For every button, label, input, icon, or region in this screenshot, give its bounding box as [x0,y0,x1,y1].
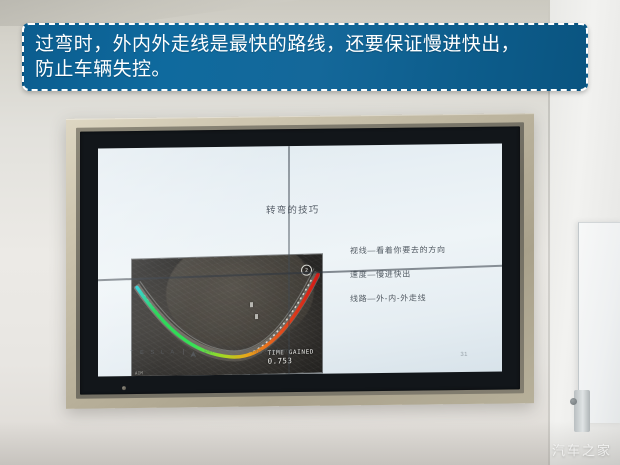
car-marker-a [250,302,253,307]
caption-line-2: 防止车辆失控。 [35,58,171,80]
display-frame: 转弯的技巧 [66,113,534,409]
presentation-screen[interactable]: 转弯的技巧 [98,144,502,377]
caption-text: 过弯时，外内外走线是最快的路线，还要保证慢进快出， 防止车辆失控。 [24,32,531,82]
caption-banner: 过弯时，外内外走线是最快的路线，还要保证慢进快出， 防止车辆失控。 [22,23,588,91]
slide-bullet-line: 线路—外-内-外走线 [350,292,446,304]
slide-bullet-vision: 视线—看着你要去的方向 [350,244,446,256]
slide-title: 转弯的技巧 [266,202,320,217]
slide-footer: T E S L A | Performance Driving Academy [130,342,291,362]
caption-line-1: 过弯时，外内外走线是最快的路线，还要保证慢进快出， [35,33,520,55]
academy-subtitle: Performance Driving Academy [204,348,290,355]
site-watermark: 汽车之家 [552,440,612,459]
floor-shadow [0,421,620,465]
car-marker-b [255,314,258,319]
slide-page-number: 31 [460,352,468,358]
slide-bullet-list: 视线—看着你要去的方向 速度—慢进快出 线路—外-内-外走线 [350,244,446,317]
tesla-wordmark: T E S L A [130,350,177,357]
whiteboard-tray [574,390,590,432]
panel-seam-vertical [288,146,290,374]
footer-separator: | [183,349,185,355]
screenshot-stage: 转弯的技巧 [0,0,620,465]
tesla-logo-icon [190,343,198,361]
photo-corner-tag: AIM [135,370,143,375]
ir-sensor-icon [122,386,126,390]
whiteboard-knob [570,398,577,405]
display-bezel: 转弯的技巧 [80,126,520,394]
